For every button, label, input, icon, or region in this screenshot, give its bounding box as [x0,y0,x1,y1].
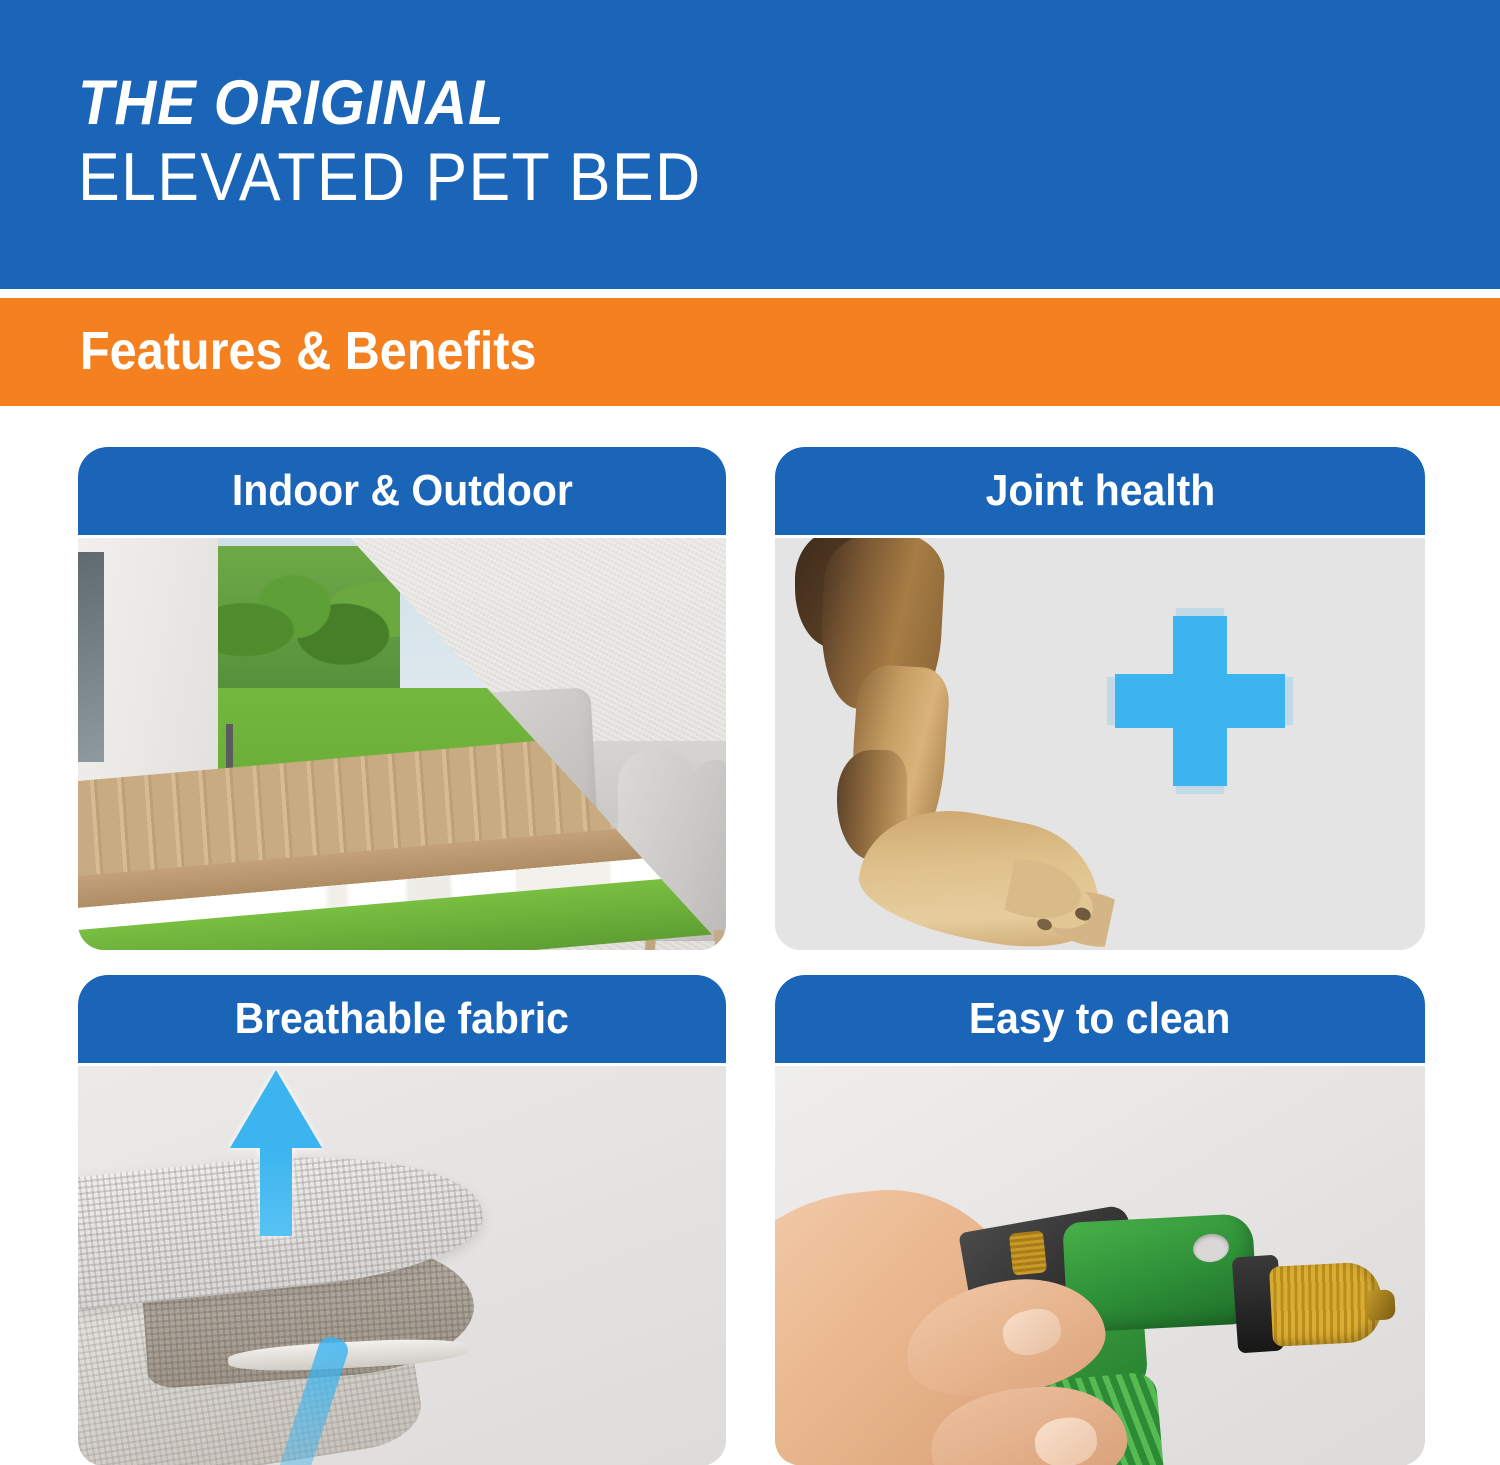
card-header-indoor-outdoor: Indoor & Outdoor [78,447,726,535]
arrow-stem [260,1144,292,1236]
arrow-head [230,1070,322,1148]
feature-card-easy-to-clean: Easy to clean [775,975,1425,1465]
hero-title-line-1: THE ORIGINAL [78,72,702,135]
infographic-page: THE ORIGINAL ELEVATED PET BED Features &… [0,0,1500,1465]
indoor-outdoor-illustration [78,538,726,950]
card-image-joint-health [775,538,1425,950]
feature-card-indoor-outdoor: Indoor & Outdoor [78,447,726,950]
medical-cross-horizontal [1115,674,1285,728]
breathable-fabric-illustration [78,1066,726,1465]
feature-card-breathable-fabric: Breathable fabric [78,975,726,1465]
hero-header: THE ORIGINAL ELEVATED PET BED [0,0,1500,289]
card-image-easy-to-clean [775,1066,1425,1465]
medical-cross-icon [1115,616,1285,786]
card-title-joint-health: Joint health [985,466,1215,516]
nozzle-brass-head [1269,1261,1383,1347]
up-arrow-icon [230,1070,322,1230]
sofa-armrest-side [692,760,726,940]
trees [210,546,400,698]
card-image-indoor-outdoor [78,538,726,950]
card-image-breathable-fabric [78,1066,726,1465]
nozzle-brass-screw [1009,1230,1047,1275]
card-title-breathable-fabric: Breathable fabric [235,994,569,1044]
card-header-joint-health: Joint health [775,447,1425,535]
joint-health-illustration [775,538,1425,950]
nozzle-tip [1366,1289,1396,1320]
card-header-easy-to-clean: Easy to clean [775,975,1425,1063]
features-banner: Features & Benefits [0,298,1500,406]
card-header-breathable-fabric: Breathable fabric [78,975,726,1063]
card-title-easy-to-clean: Easy to clean [969,994,1231,1044]
hero-title-line-2: ELEVATED PET BED [78,142,702,213]
card-title-indoor-outdoor: Indoor & Outdoor [232,466,573,516]
easy-to-clean-illustration [775,1066,1425,1465]
hero-title-block: THE ORIGINAL ELEVATED PET BED [78,72,756,213]
feature-card-joint-health: Joint health [775,447,1425,950]
features-banner-title: Features & Benefits [80,320,536,382]
house-window [78,552,104,762]
